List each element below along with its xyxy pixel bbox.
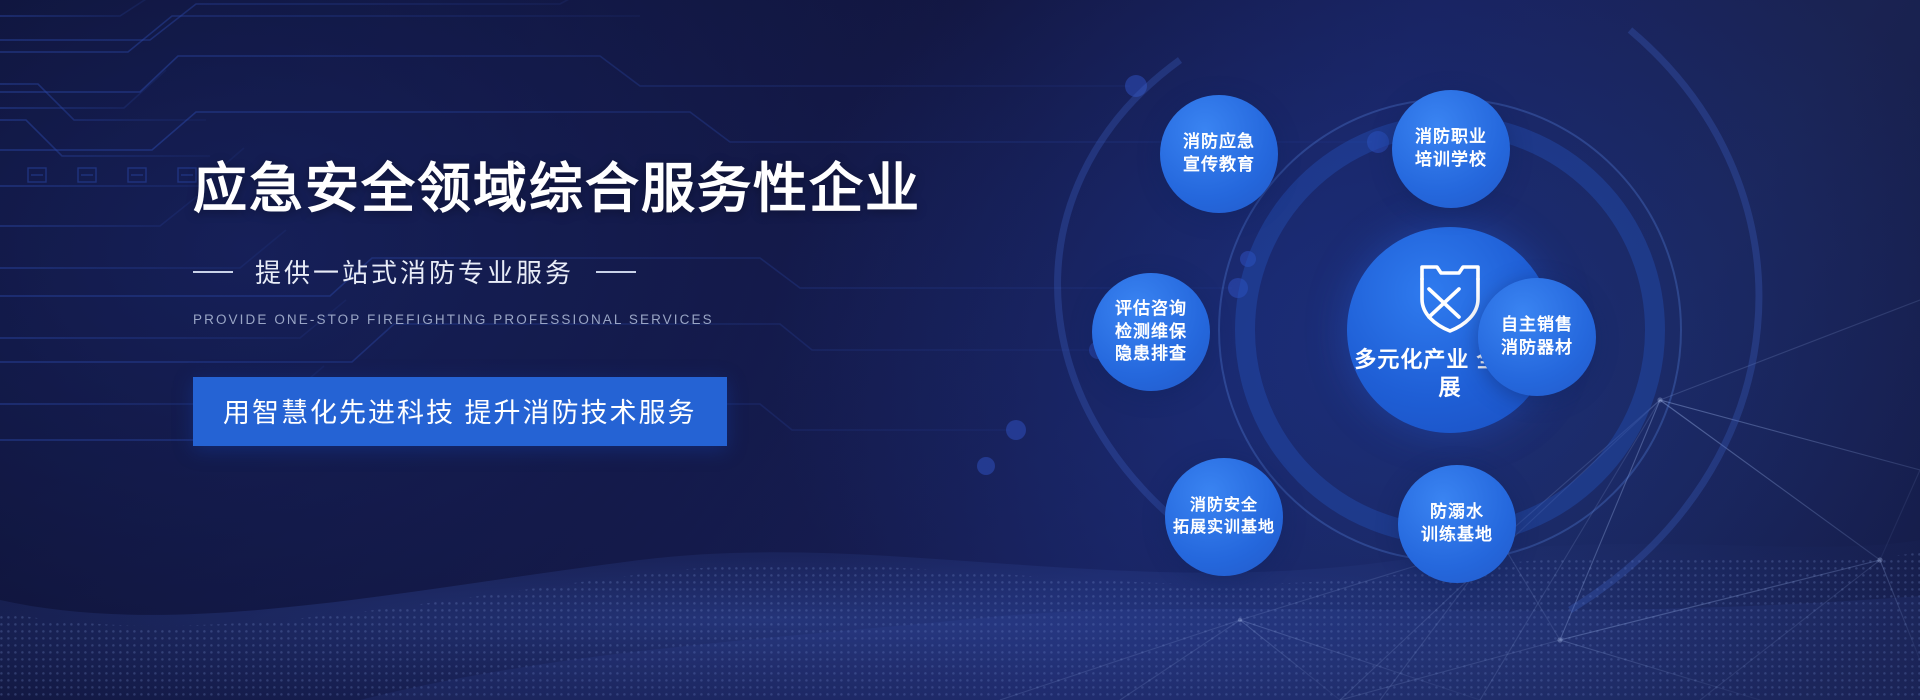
page-subtitle: 提供一站式消防专业服务 (255, 253, 574, 290)
page-title: 应急安全领域综合服务性企业 (193, 160, 893, 219)
english-tagline: PROVIDE ONE-STOP FIREFIGHTING PROFESSION… (193, 312, 893, 327)
service-bubble-safety-training-base[interactable]: 消防安全 拓展实训基地 (1165, 458, 1283, 576)
bubble-line1: 自主销售 (1501, 314, 1573, 337)
bubble-line1: 消防安全 (1190, 495, 1258, 517)
bubble-line2: 检测维保 (1115, 321, 1187, 344)
cta-banner[interactable]: 用智慧化先进科技 提升消防技术服务 (193, 377, 727, 446)
bubble-line2: 宣传教育 (1183, 154, 1255, 177)
service-bubble-equipment-sales[interactable]: 自主销售 消防器材 (1478, 278, 1596, 396)
bubble-line1: 防溺水 (1430, 501, 1484, 524)
bubble-line2: 拓展实训基地 (1173, 517, 1275, 539)
bubble-line3: 隐患排查 (1115, 343, 1187, 366)
chip-squares (28, 168, 196, 182)
service-bubble-assessment-inspection[interactable]: 评估咨询 检测维保 隐患排查 (1092, 273, 1210, 391)
center-label-line1: 多元化产业 (1354, 347, 1469, 372)
rule-left-icon (193, 271, 233, 273)
service-bubble-vocational-training-school[interactable]: 消防职业 培训学校 (1392, 90, 1510, 208)
rule-right-icon (596, 271, 636, 273)
bubble-line1: 评估咨询 (1115, 298, 1187, 321)
bubble-line2: 训练基地 (1421, 524, 1493, 547)
bubble-line1: 消防应急 (1183, 131, 1255, 154)
bubble-line2: 培训学校 (1415, 149, 1487, 172)
service-bubble-fire-emergency-publicity[interactable]: 消防应急 宣传教育 (1160, 95, 1278, 213)
services-circle-diagram: 多元化产业 全面开展 消防应急 宣传教育 消防职业 培训学校 评估咨询 检测维保… (1140, 70, 1760, 630)
hero-banner: 应急安全领域综合服务性企业 提供一站式消防专业服务 PROVIDE ONE-ST… (0, 0, 1920, 700)
subtitle-row: 提供一站式消防专业服务 (193, 253, 893, 290)
hero-text-block: 应急安全领域综合服务性企业 提供一站式消防专业服务 PROVIDE ONE-ST… (193, 160, 893, 446)
service-bubble-drowning-prevention-base[interactable]: 防溺水 训练基地 (1398, 465, 1516, 583)
bubble-line2: 消防器材 (1501, 337, 1573, 360)
bubble-line1: 消防职业 (1415, 126, 1487, 149)
